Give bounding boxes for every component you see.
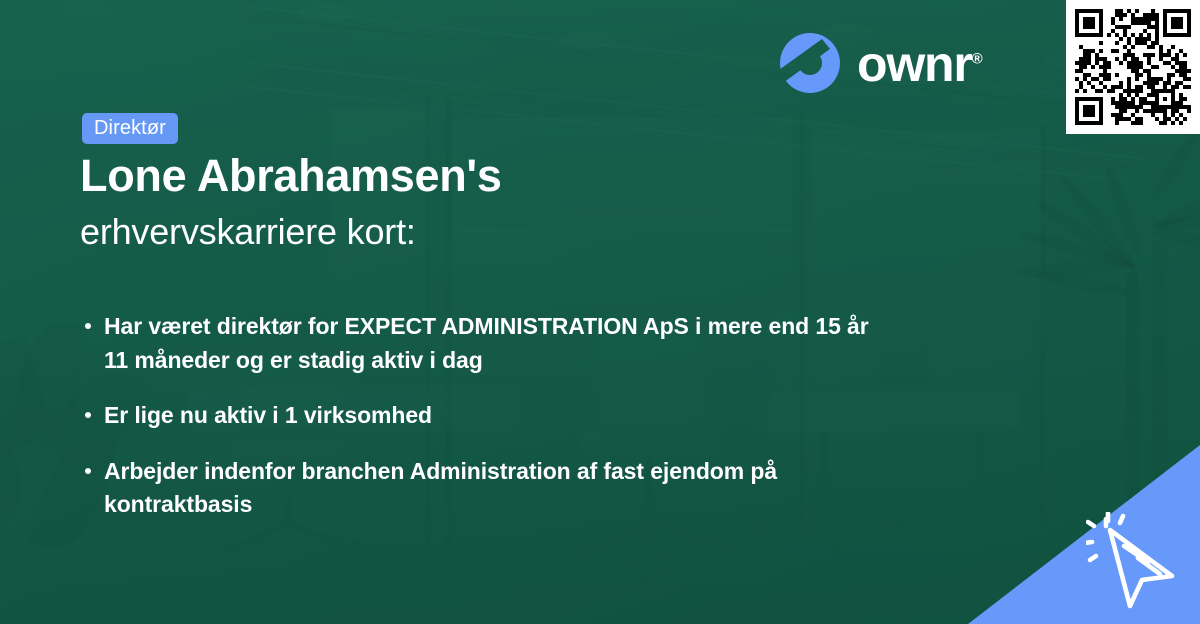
role-badge-label: Direktør <box>94 117 166 140</box>
bullet-icon <box>85 468 91 474</box>
list-item: Er lige nu aktiv i 1 virksomhed <box>82 399 894 433</box>
ownr-logo[interactable]: ownr® <box>778 31 983 95</box>
role-badge: Direktør <box>82 113 178 144</box>
list-item: Har været direktør for EXPECT ADMINISTRA… <box>82 310 894 377</box>
career-facts-list: Har været direktør for EXPECT ADMINISTRA… <box>82 310 902 522</box>
bullet-icon <box>85 323 91 329</box>
list-item: Arbejder indenfor branchen Administratio… <box>82 455 894 522</box>
ownr-mark-icon <box>778 31 842 95</box>
list-item-text: Arbejder indenfor branchen Administratio… <box>104 458 777 518</box>
ownr-wordmark: ownr® <box>857 39 983 89</box>
bullet-icon <box>85 412 91 418</box>
list-item-text: Har været direktør for EXPECT ADMINISTRA… <box>104 313 869 373</box>
list-item-text: Er lige nu aktiv i 1 virksomhed <box>104 402 432 428</box>
page-subtitle: erhvervskarriere kort: <box>80 210 416 253</box>
ownr-wordmark-text: ownr <box>857 36 972 92</box>
business-profile-card: Direktør Lone Abrahamsen's erhvervskarri… <box>0 0 1200 624</box>
page-title: Lone Abrahamsen's <box>80 152 502 199</box>
click-cursor-icon <box>1086 512 1190 616</box>
qr-code-matrix <box>1075 9 1191 125</box>
qr-code[interactable] <box>1066 0 1200 134</box>
registered-trademark-icon: ® <box>972 50 983 67</box>
